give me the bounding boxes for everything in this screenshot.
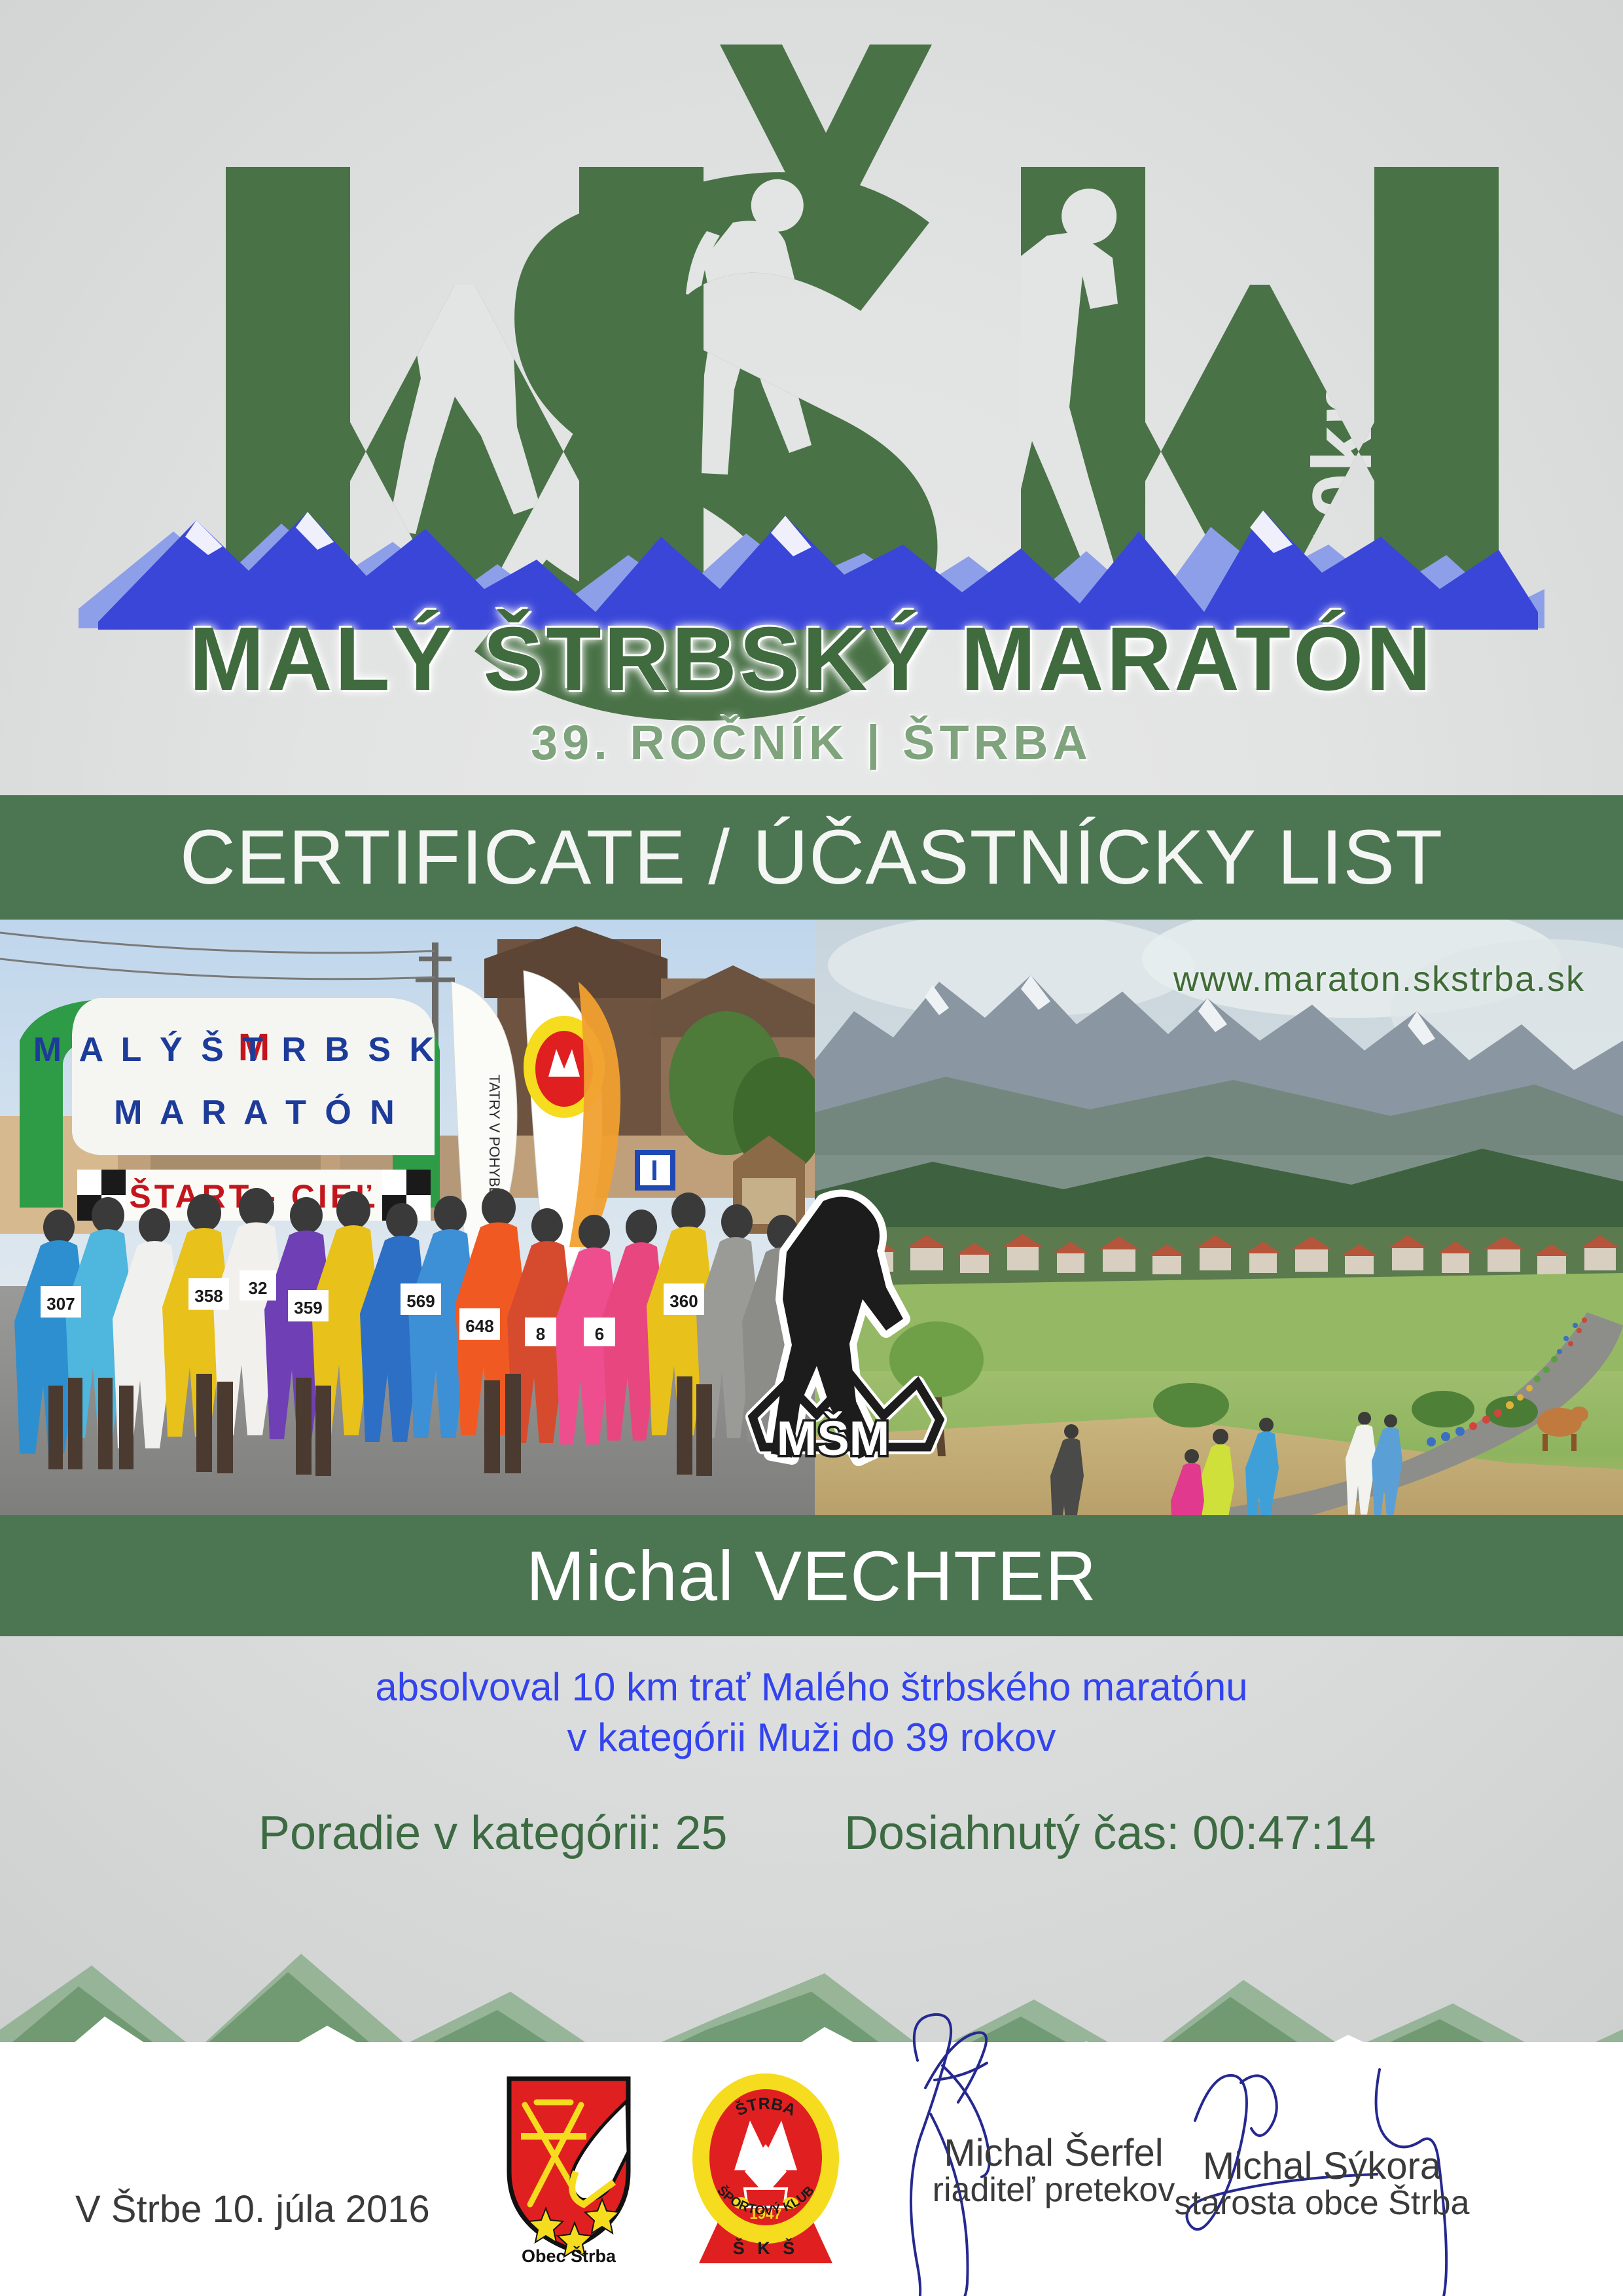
achievement-description: absolvoval 10 km trať Malého štrbského m… — [0, 1662, 1623, 1763]
result-row: Poradie v kategórii: 25 Dosiahnutý čas: … — [0, 1806, 1623, 1860]
time-label: Dosiahnutý čas: — [844, 1807, 1179, 1859]
svg-text:M A R A T Ó N: M A R A T Ó N — [114, 1094, 399, 1132]
svg-text:M A L Ý Š T R B S K Ý: M A L Ý Š T R B S K Ý — [33, 1030, 480, 1069]
msm-runner-badge: MŠM — [738, 1181, 954, 1489]
signature-role-2: starosta obce Štrba — [1113, 2185, 1531, 2221]
certificate-page: 31km 10km — [0, 0, 1623, 2296]
description-line-2: v kategórii Muži do 39 rokov — [0, 1713, 1623, 1763]
svg-text:TATRY V POHYBE: TATRY V POHYBE — [486, 1075, 503, 1197]
rank-value: 25 — [675, 1807, 727, 1859]
crest-obec-label: Obec Štrba — [522, 2246, 616, 2263]
website-url[interactable]: www.maraton.skstrba.sk — [1173, 959, 1585, 999]
msm-badge-text: MŠM — [777, 1411, 890, 1465]
runner-name: Michal VECHTER — [526, 1541, 1097, 1611]
place-and-date: V Štrbe 10. júla 2016 — [75, 2187, 430, 2231]
event-subtitle: 39. ROČNÍK | ŠTRBA — [0, 719, 1623, 767]
runner-name-band: Michal VECHTER — [0, 1515, 1623, 1636]
photo-race-start: M x M A L Ý Š T R B S K Ý M A R A T Ó N — [0, 920, 815, 1515]
svg-text:31km: 31km — [579, 781, 673, 795]
finish-time: Dosiahnutý čas: 00:47:14 — [844, 1806, 1531, 1860]
signature-name-2: Michal Sýkora — [1113, 2147, 1531, 2185]
rank-label: Poradie v kategórii: — [259, 1807, 662, 1859]
svg-text:358: 358 — [194, 1286, 223, 1306]
svg-text:648: 648 — [465, 1316, 493, 1336]
svg-text:8: 8 — [536, 1324, 545, 1344]
start-arch: M x M A L Ý Š T R B S K Ý M A R A T Ó N — [20, 998, 480, 1221]
time-value: 00:47:14 — [1192, 1807, 1376, 1859]
description-line-1: absolvoval 10 km trať Malého štrbského m… — [0, 1662, 1623, 1713]
distance-31km-text: 31km — [579, 781, 673, 795]
svg-text:307: 307 — [46, 1294, 75, 1314]
event-logo: 31km 10km — [0, 0, 1623, 795]
certificate-title-band: CERTIFICATE / ÚČASTNÍCKY LIST — [0, 795, 1623, 920]
footer: V Štrbe 10. júla 2016 Obe — [0, 2042, 1623, 2296]
caron-accent — [720, 45, 932, 185]
signature-block-mayor: Michal Sýkora starosta obce Štrba — [1113, 2147, 1531, 2221]
svg-text:569: 569 — [406, 1291, 435, 1311]
category-rank: Poradie v kategórii: 25 — [92, 1806, 844, 1860]
crest-sks: 1947 ŠTRBA ŠPORTOVÝ KLUB Š K Š — [681, 2067, 851, 2263]
svg-text:360: 360 — [669, 1291, 698, 1311]
distance-10km-text: 10km — [1296, 352, 1389, 566]
certificate-title: CERTIFICATE / ÚČASTNÍCKY LIST — [180, 819, 1443, 896]
svg-text:359: 359 — [294, 1298, 322, 1318]
event-title: MALÝ ŠTRBSKÝ MARATÓN 39. ROČNÍK | ŠTRBA — [0, 614, 1623, 767]
crest-obec-strba: Obec Štrba — [497, 2073, 674, 2263]
crest-sks-bottom: Š K Š — [733, 2238, 799, 2258]
svg-text:6: 6 — [595, 1324, 604, 1344]
svg-text:32: 32 — [249, 1278, 268, 1298]
